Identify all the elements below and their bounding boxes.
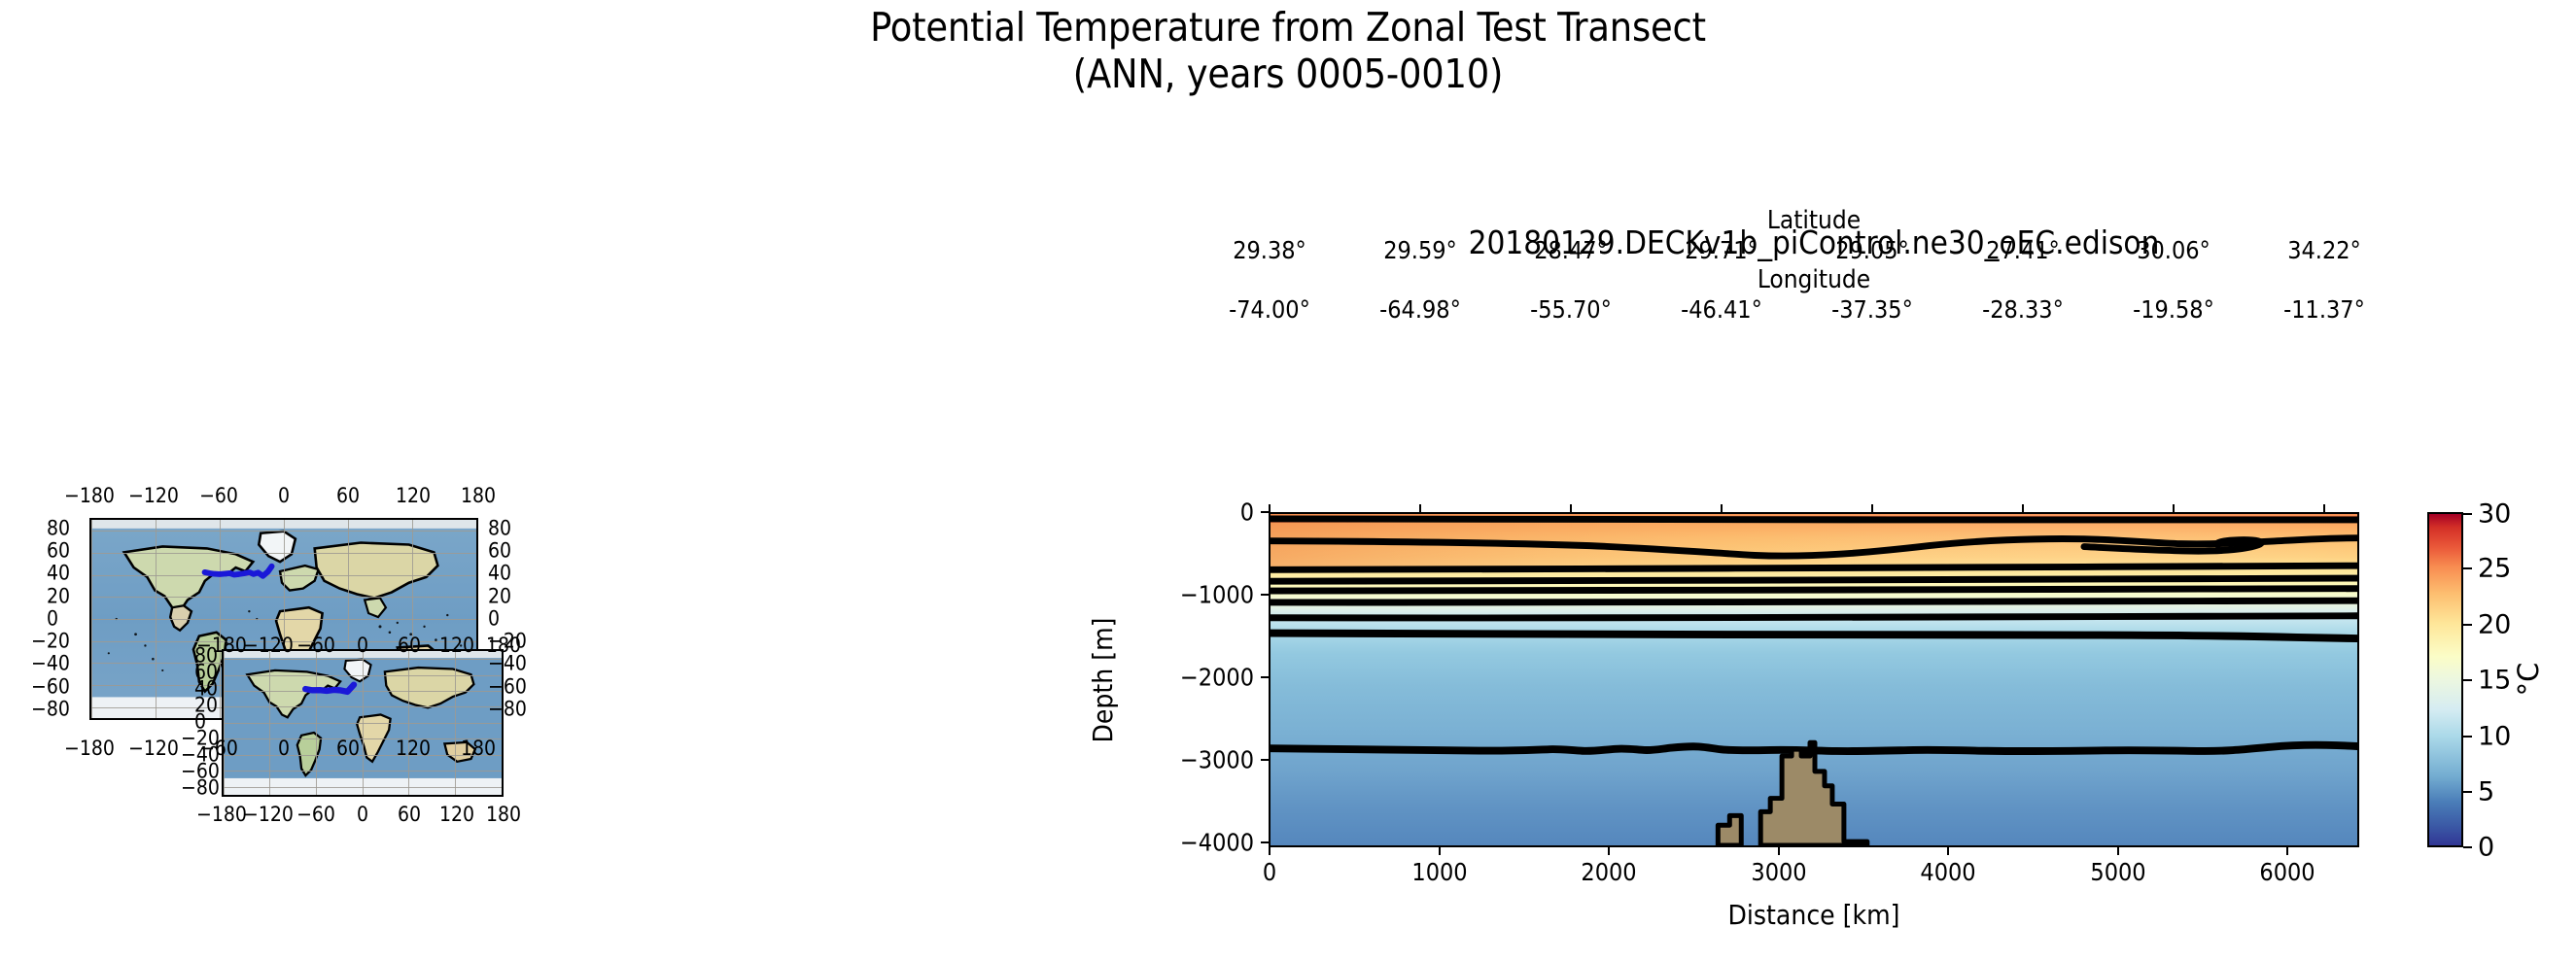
map-inset-lon-tick-bot-4: 60: [398, 805, 421, 825]
map-lat-tick-r-7: −60: [488, 677, 527, 698]
map-lat-tick-l-4: 0: [47, 609, 58, 630]
map-lat-tick-r-2: 40: [488, 564, 511, 584]
map-lon-tick-top-1: −120: [128, 486, 179, 506]
lon-tick-7: -11.37°: [2283, 297, 2365, 322]
colorbar-tick-0: 0: [2478, 835, 2494, 861]
colorbar-tick-1: 5: [2478, 779, 2494, 806]
colorbar-tick-3: 15: [2478, 668, 2511, 694]
map-panel: −180 −120 −60 0 60 120 180 −180 −120 −60…: [0, 447, 603, 961]
depth-tick-3: −3000: [1180, 748, 1254, 772]
map-lat-tick-r-8: −80: [488, 700, 527, 720]
map-lon-tick-bot-3: 0: [278, 738, 290, 759]
map-lon-tick-bot-6: 180: [461, 738, 496, 759]
map-inset-lon-tick-top-5: 120: [439, 635, 474, 656]
distance-tick-2: 2000: [1581, 860, 1636, 884]
map-lon-tick-bot-1: −120: [128, 738, 179, 759]
map-inset-lon-tick-top-3: 0: [357, 635, 368, 656]
lon-tick-3: -46.41°: [1681, 297, 1762, 322]
colorbar-tick-2: 10: [2478, 724, 2511, 750]
map-lat-tick-l-2: 40: [47, 564, 70, 584]
distance-tick-1: 1000: [1411, 860, 1467, 884]
transect-track-line-inset: [224, 651, 502, 795]
map-lat-tick-r-3: 20: [488, 587, 511, 607]
distance-tick-0: 0: [1263, 860, 1276, 884]
figure-title-line1: Potential Temperature from Zonal Test Tr…: [870, 4, 1706, 51]
x-axis-label: Distance [km]: [1269, 899, 2359, 931]
lon-tick-1: -64.98°: [1379, 297, 1461, 322]
world-map-inset[interactable]: [222, 649, 504, 797]
map-lon-tick-top-0: −180: [64, 486, 115, 506]
distance-tick-6: 6000: [2259, 860, 2315, 884]
map-lon-tick-top-2: −60: [199, 486, 238, 506]
map-lat-tick-l-8: −80: [31, 700, 70, 720]
lon-tick-0: -74.00°: [1229, 297, 1310, 322]
run-name-title: 20180129.DECKv1b_piControl.ne30_oEC.edis…: [1269, 223, 2359, 262]
distance-tick-3: 3000: [1751, 860, 1806, 884]
map-inset-lon-tick-top-1: −120: [243, 635, 294, 656]
map-lat-tick-r-1: 60: [488, 541, 511, 562]
map-lon-tick-top-5: 120: [396, 486, 431, 506]
map-inset-lon-tick-top-2: −60: [296, 635, 335, 656]
map-lon-tick-bot-5: 120: [396, 738, 431, 759]
map-inset-lon-tick-bot-2: −60: [296, 805, 335, 825]
colorbar-tick-6: 30: [2478, 501, 2511, 528]
map-lat-tick-r-4: 0: [488, 609, 500, 630]
map-inset-lon-tick-bot-6: 180: [486, 805, 521, 825]
map-inset-lon-tick-bot-0: −180: [196, 805, 247, 825]
transect-contour-plot[interactable]: [1269, 512, 2359, 847]
depth-tick-2: −2000: [1180, 666, 1254, 690]
map-lon-tick-top-4: 60: [336, 486, 360, 506]
lon-tick-2: -55.70°: [1530, 297, 1612, 322]
transect-field: [1271, 514, 2357, 845]
transect-panel: Latitude 29.38° 29.59° 28.47° 29.71° 29.…: [1098, 292, 2479, 933]
distance-tick-4: 4000: [1920, 860, 1975, 884]
map-inset-lat-tick-8: −80: [181, 778, 220, 799]
depth-tick-1: −1000: [1180, 583, 1254, 607]
distance-tick-5: 5000: [2090, 860, 2145, 884]
map-lon-tick-top-3: 0: [278, 486, 290, 506]
map-lat-tick-l-5: −20: [31, 632, 70, 652]
map-lat-tick-r-0: 80: [488, 519, 511, 539]
lon-tick-6: -19.58°: [2133, 297, 2214, 322]
colorbar-gradient: [2427, 512, 2463, 847]
colorbar-tick-5: 25: [2478, 556, 2511, 582]
map-inset-lon-tick-bot-5: 120: [439, 805, 474, 825]
map-lat-tick-l-6: −40: [31, 654, 70, 674]
map-lat-tick-l-7: −60: [31, 677, 70, 698]
lon-tick-4: -37.35°: [1831, 297, 1913, 322]
map-lat-tick-l-1: 60: [47, 541, 70, 562]
map-lon-tick-bot-4: 60: [336, 738, 360, 759]
map-lon-tick-bot-0: −180: [64, 738, 115, 759]
colorbar-unit-label: °C: [2512, 663, 2545, 697]
map-lat-tick-l-3: 20: [47, 587, 70, 607]
longitude-axis-label: Longitude: [1269, 265, 2359, 294]
depth-tick-0: 0: [1240, 500, 1254, 525]
figure-title-line2: (ANN, years 0005-0010): [0, 51, 2576, 97]
map-lat-tick-l-0: 80: [47, 519, 70, 539]
map-inset-lon-tick-top-6: 180: [486, 635, 521, 656]
lon-tick-5: -28.33°: [1982, 297, 2064, 322]
depth-tick-4: −4000: [1180, 831, 1254, 855]
map-inset-lon-tick-bot-1: −120: [243, 805, 294, 825]
colorbar[interactable]: 0 5 10 15 20 25 30 °C: [2427, 512, 2544, 847]
map-lon-tick-top-6: 180: [461, 486, 496, 506]
figure-title: Potential Temperature from Zonal Test Tr…: [0, 4, 2576, 97]
y-axis-label: Depth [m]: [1087, 618, 1119, 743]
map-inset-lon-tick-top-4: 60: [398, 635, 421, 656]
map-inset-lon-tick-bot-3: 0: [357, 805, 368, 825]
colorbar-tick-4: 20: [2478, 612, 2511, 638]
